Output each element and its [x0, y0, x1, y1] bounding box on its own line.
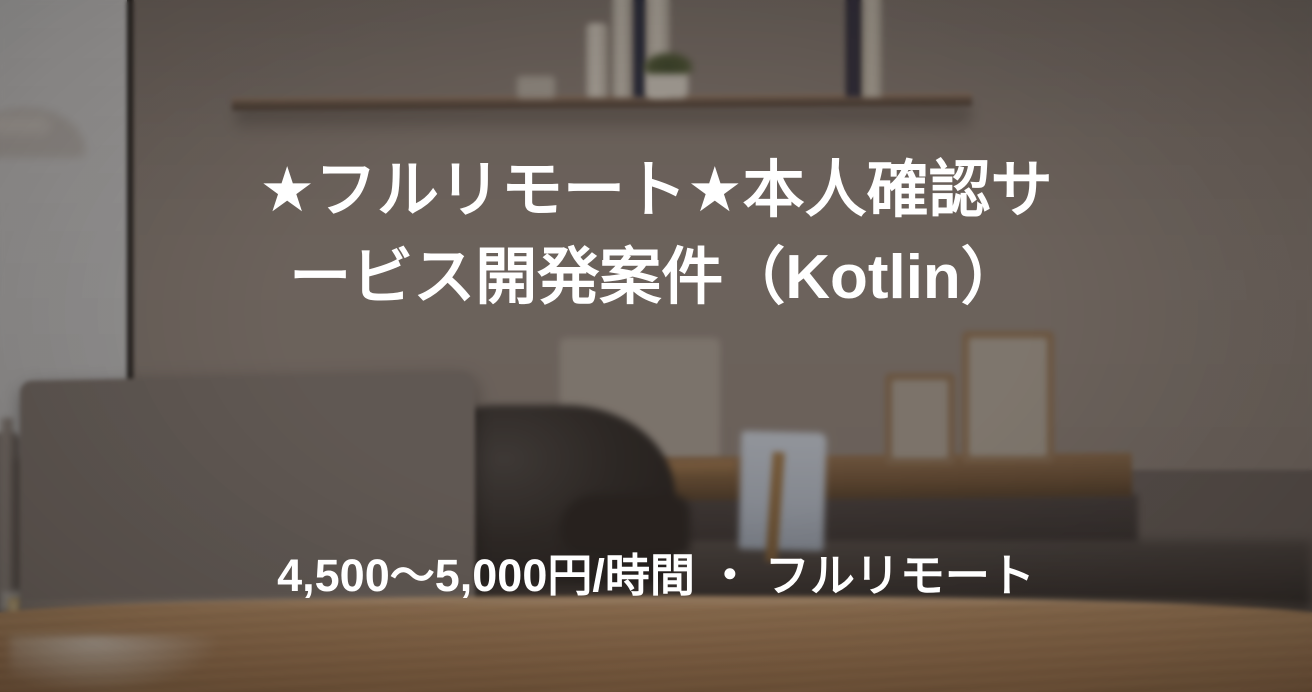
job-rate-and-work-style: 4,500～5,000円/時間 ・ フルリモート	[106, 549, 1206, 603]
job-title-headline: ★フルリモート★本人確認サービス開発案件（Kotlin）	[256, 148, 1056, 322]
job-posting-banner: ★フルリモート★本人確認サービス開発案件（Kotlin） 4,500～5,000…	[0, 0, 1312, 692]
banner-text-overlay: ★フルリモート★本人確認サービス開発案件（Kotlin） 4,500～5,000…	[0, 0, 1312, 692]
